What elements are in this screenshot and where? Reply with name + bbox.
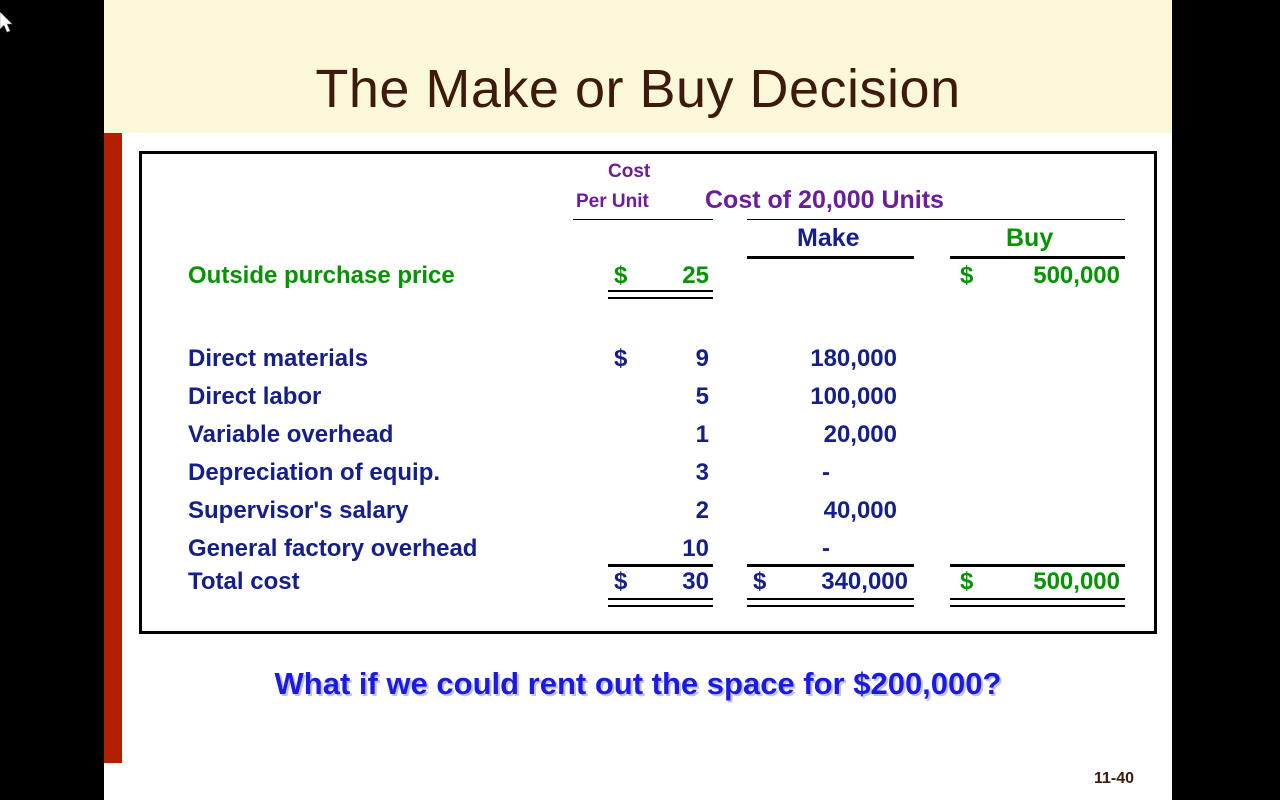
row-general-factory-overhead-per-unit: 10 (647, 537, 709, 561)
row-direct-materials-per-unit-symbol: $ (614, 347, 627, 371)
rule-make-header (747, 256, 914, 259)
row-direct-materials-make: 180,000 (755, 347, 897, 371)
row-direct-materials-per-unit: 9 (647, 347, 709, 371)
rule-units-header (747, 219, 1125, 220)
row-label-total-cost: Total cost (188, 570, 300, 594)
header-cost: Cost (608, 162, 650, 181)
screen: The Make or Buy Decision Cost Per Unit C… (0, 0, 1280, 800)
row-direct-labor-make: 100,000 (755, 385, 897, 409)
total-make: 340,000 (778, 570, 908, 594)
row-variable-overhead-per-unit: 1 (647, 423, 709, 447)
row-supervisors-salary-make: 40,000 (755, 499, 897, 523)
total-make-symbol: $ (753, 570, 766, 594)
slide-canvas: The Make or Buy Decision Cost Per Unit C… (104, 0, 1172, 800)
rule-total-per-unit-double (608, 598, 713, 607)
row-label-supervisors-salary: Supervisor's salary (188, 499, 409, 523)
total-per-unit: 30 (647, 570, 709, 594)
header-buy: Buy (1006, 226, 1053, 251)
row-variable-overhead-make: 20,000 (755, 423, 897, 447)
total-buy-symbol: $ (960, 570, 973, 594)
row-label-direct-labor: Direct labor (188, 385, 321, 409)
row-depreciation-per-unit: 3 (647, 461, 709, 485)
row-depreciation-make: - (755, 461, 897, 485)
row-label-variable-overhead: Variable overhead (188, 423, 393, 447)
mouse-pointer-icon (0, 12, 14, 34)
row-outside-per-unit-symbol: $ (614, 264, 627, 288)
rule-total-buy-top (950, 564, 1125, 567)
header-cost-of-units: Cost of 20,000 Units (705, 188, 944, 213)
total-per-unit-symbol: $ (614, 570, 627, 594)
row-outside-buy: 500,000 (990, 264, 1120, 288)
rule-total-make-double (747, 598, 914, 607)
row-supervisors-salary-per-unit: 2 (647, 499, 709, 523)
rule-total-make-top (747, 564, 914, 567)
page-number: 11-40 (1094, 770, 1134, 788)
cost-comparison-table: Cost Per Unit Cost of 20,000 Units Make … (139, 151, 1157, 634)
header-make: Make (797, 226, 860, 251)
rule-total-buy-double (950, 598, 1125, 607)
rule-per-unit-header (573, 219, 713, 220)
question-text: What if we could rent out the space for … (104, 666, 1172, 702)
row-outside-per-unit: 25 (647, 264, 709, 288)
rule-outside-per-unit-double (608, 290, 713, 299)
row-outside-buy-symbol: $ (960, 264, 973, 288)
row-direct-labor-per-unit: 5 (647, 385, 709, 409)
rule-buy-header (950, 256, 1125, 259)
page-title: The Make or Buy Decision (104, 58, 1172, 120)
row-label-outside-purchase-price: Outside purchase price (188, 264, 455, 288)
header-per-unit: Per Unit (576, 192, 649, 211)
rule-total-per-unit-top (608, 564, 713, 567)
row-general-factory-overhead-make: - (755, 537, 897, 561)
row-label-general-factory-overhead: General factory overhead (188, 537, 477, 561)
row-label-depreciation-of-equip: Depreciation of equip. (188, 461, 440, 485)
total-buy: 500,000 (990, 570, 1120, 594)
row-label-direct-materials: Direct materials (188, 347, 368, 371)
